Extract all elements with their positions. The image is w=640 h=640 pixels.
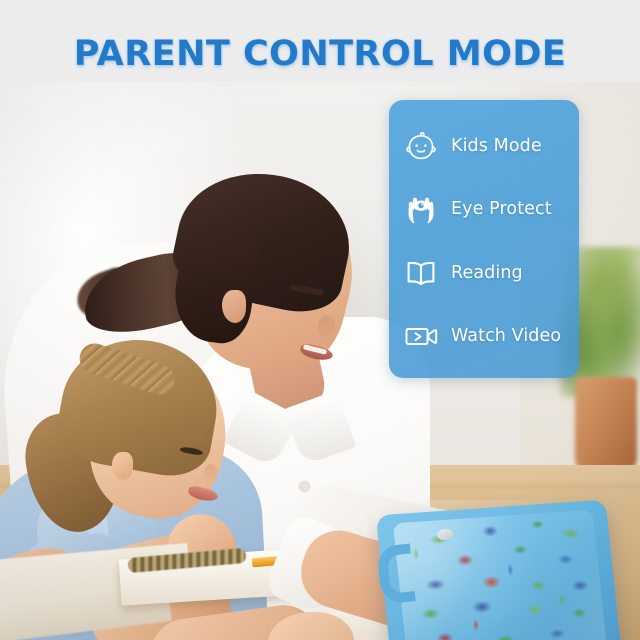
feature-item-eye-protect[interactable]: Eye Protect (389, 180, 579, 238)
eye-in-hands-icon (400, 188, 442, 230)
kids-tablet-case (385, 507, 625, 640)
open-book-icon (400, 252, 442, 294)
feature-label-eye-protect: Eye Protect (451, 199, 552, 219)
product-marketing-image: PARENT CONTROL MODE Kids Mode (0, 0, 640, 640)
feature-item-kids-mode[interactable]: Kids Mode (389, 117, 579, 175)
page-title: PARENT CONTROL MODE (0, 34, 640, 74)
mother-shirt-button (300, 482, 309, 491)
feature-item-reading[interactable]: Reading (389, 244, 579, 302)
mother-ear (222, 290, 246, 323)
feature-label-reading: Reading (451, 263, 523, 283)
feature-panel: Kids Mode Eye Protect (389, 100, 579, 378)
tablet-glare (393, 509, 609, 640)
tablet-case-front (393, 509, 609, 640)
feature-label-kids-mode: Kids Mode (451, 136, 542, 156)
girl-nose (204, 464, 218, 482)
feature-label-watch-video: Watch Video (451, 326, 561, 346)
video-camera-icon (400, 315, 442, 357)
plant-pot (575, 377, 637, 472)
baby-face-icon (400, 125, 442, 167)
feature-item-watch-video[interactable]: Watch Video (389, 307, 579, 365)
girl-ear (112, 452, 133, 480)
